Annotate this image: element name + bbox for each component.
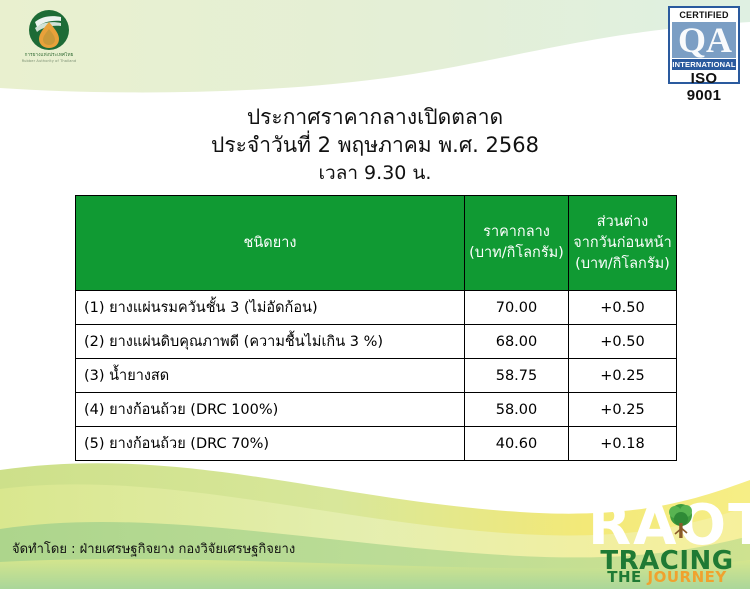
svg-text:QA: QA xyxy=(678,22,732,58)
footer-credit: จัดทำโดย : ฝ่ายเศรษฐกิจยาง กองวิจัยเศรษฐ… xyxy=(12,538,295,559)
price-cell: 40.60 xyxy=(465,427,569,461)
table-row: (3) น้ำยางสด 58.75 +0.25 xyxy=(76,359,677,393)
raot-wordmark-journey: JOURNEY xyxy=(648,568,727,586)
title-date: ประจำวันที่ 2 พฤษภาคม พ.ศ. 2568 xyxy=(0,131,750,160)
column-header-rubber-type-label: ชนิดยาง xyxy=(244,235,297,251)
rubber-type-cell: (3) น้ำยางสด xyxy=(76,359,465,393)
page-header: การยางแห่งประเทศไทย Rubber Authority of … xyxy=(0,0,750,95)
iso-standard-label: ISO 9001 xyxy=(672,70,736,104)
price-cell: 58.75 xyxy=(465,359,569,393)
column-header-difference: ส่วนต่าง จากวันก่อนหน้า (บาท/กิโลกรัม) xyxy=(569,196,677,291)
price-cell: 70.00 xyxy=(465,291,569,325)
table-row: (1) ยางแผ่นรมควันชั้น 3 (ไม่อัดก้อน) 70.… xyxy=(76,291,677,325)
qa-monogram-icon: QA xyxy=(672,22,736,58)
difference-cell: +0.50 xyxy=(569,325,677,359)
table-header-row: ชนิดยาง ราคากลาง (บาท/กิโลกรัม) ส่วนต่าง… xyxy=(76,196,677,291)
difference-cell: +0.18 xyxy=(569,427,677,461)
raot-seal-icon: การยางแห่งประเทศไทย Rubber Authority of … xyxy=(18,8,80,70)
difference-cell: +0.50 xyxy=(569,291,677,325)
org-name-th: การยางแห่งประเทศไทย xyxy=(18,54,80,59)
table-row: (2) ยางแผ่นดิบคุณภาพดี (ความชื้นไม่เกิน … xyxy=(76,325,677,359)
rubber-type-cell: (5) ยางก้อนถ้วย (DRC 70%) xyxy=(76,427,465,461)
price-cell: 68.00 xyxy=(465,325,569,359)
column-header-difference-line2: จากวันก่อนหน้า xyxy=(569,233,676,254)
rubber-type-cell: (1) ยางแผ่นรมควันชั้น 3 (ไม่อัดก้อน) xyxy=(76,291,465,325)
iso-certified-label: CERTIFIED xyxy=(672,10,736,21)
column-header-price-line2: (บาท/กิโลกรัม) xyxy=(465,243,568,264)
rubber-tree-icon xyxy=(667,501,695,541)
rubber-type-cell: (4) ยางก้อนถ้วย (DRC 100%) xyxy=(76,393,465,427)
column-header-price-line1: ราคากลาง xyxy=(465,222,568,243)
price-table: ชนิดยาง ราคากลาง (บาท/กิโลกรัม) ส่วนต่าง… xyxy=(75,195,677,461)
raot-wordmark-the: THE xyxy=(607,568,642,586)
column-header-difference-line1: ส่วนต่าง xyxy=(569,212,676,233)
price-cell: 58.00 xyxy=(465,393,569,427)
announcement-page: การยางแห่งประเทศไทย Rubber Authority of … xyxy=(0,0,750,589)
org-name-en: Rubber Authority of Thailand xyxy=(18,60,80,64)
title-time: เวลา 9.30 น. xyxy=(0,160,750,187)
column-header-difference-line3: (บาท/กิโลกรัม) xyxy=(569,254,676,275)
table-row: (5) ยางก้อนถ้วย (DRC 70%) 40.60 +0.18 xyxy=(76,427,677,461)
rubber-type-cell: (2) ยางแผ่นดิบคุณภาพดี (ความชื้นไม่เกิน … xyxy=(76,325,465,359)
difference-cell: +0.25 xyxy=(569,359,677,393)
iso-international-label: INTERNATIONAL xyxy=(672,59,736,70)
raot-wordmark: RAOT TRACING THE JOURNEY xyxy=(588,498,746,586)
column-header-rubber-type: ชนิดยาง xyxy=(76,196,465,291)
title-main: ประกาศราคากลางเปิดตลาด xyxy=(0,104,750,131)
raot-wordmark-subtagline: THE JOURNEY xyxy=(588,570,746,585)
difference-cell: +0.25 xyxy=(569,393,677,427)
page-title: ประกาศราคากลางเปิดตลาด ประจำวันที่ 2 พฤษ… xyxy=(0,104,750,187)
table-row: (4) ยางก้อนถ้วย (DRC 100%) 58.00 +0.25 xyxy=(76,393,677,427)
iso-9001-badge: CERTIFIED QA INTERNATIONAL ISO 9001 xyxy=(668,6,740,84)
column-header-price: ราคากลาง (บาท/กิโลกรัม) xyxy=(465,196,569,291)
